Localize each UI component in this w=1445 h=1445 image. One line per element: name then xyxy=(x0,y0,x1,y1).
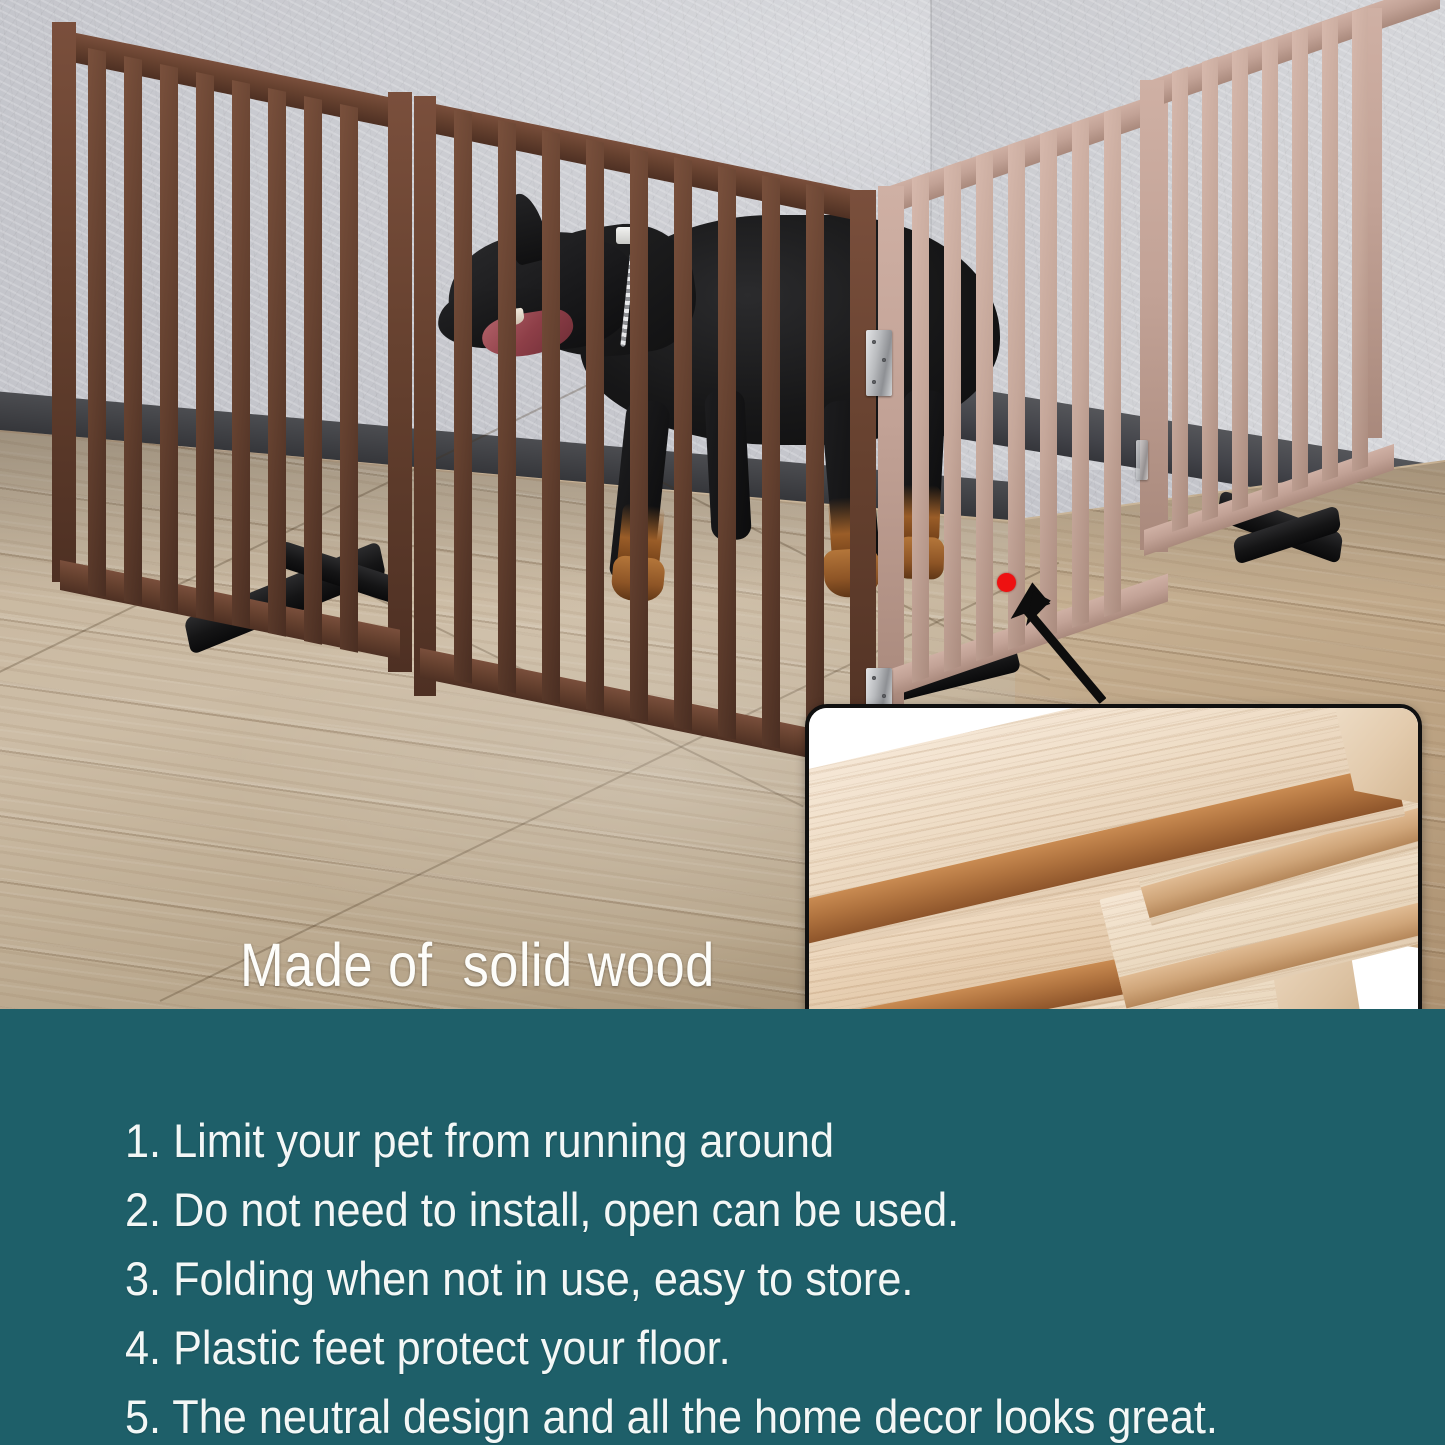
gate-panel-1 xyxy=(0,0,420,720)
gate-left-stile xyxy=(414,96,436,696)
photo-caption: Made of solid wood xyxy=(240,930,715,1000)
gate-slat xyxy=(630,148,648,722)
gate-left-stile xyxy=(878,186,904,706)
gate-slat xyxy=(1172,66,1188,532)
gate-hinge-top xyxy=(866,330,892,396)
gate-slat xyxy=(718,166,736,740)
gate-slat xyxy=(762,175,780,749)
gate-slat xyxy=(160,64,178,613)
gate-slat xyxy=(674,157,692,731)
feature-item-5: 5. The neutral design and all the home d… xyxy=(125,1382,1303,1445)
features-list: 1. Limit your pet from running around 2.… xyxy=(125,1106,1405,1445)
gate-slat xyxy=(268,88,286,637)
gate-hinge-bottom xyxy=(866,668,892,708)
gate-slat xyxy=(1322,16,1338,482)
gate-slat xyxy=(806,184,824,758)
feature-item-4: 4. Plastic feet protect your floor. xyxy=(125,1313,1303,1382)
gate-slat xyxy=(912,172,929,683)
product-infographic-page: Made of solid wood xyxy=(0,0,1445,1445)
gate-slat xyxy=(340,104,358,653)
gate-panel-4 xyxy=(1140,0,1445,620)
gate-slat xyxy=(944,161,961,672)
gate-slat xyxy=(1262,36,1278,502)
gate-right-stile xyxy=(388,92,412,672)
gate-slat xyxy=(1104,106,1121,617)
gate-slat xyxy=(196,72,214,621)
gate-hinge-right xyxy=(1136,440,1148,480)
gate-slat xyxy=(232,80,250,629)
feature-item-3: 3. Folding when not in use, easy to stor… xyxy=(125,1244,1303,1313)
feature-item-2: 2. Do not need to install, open can be u… xyxy=(125,1175,1303,1244)
gate-slat xyxy=(1040,128,1057,639)
gate-slat xyxy=(1232,46,1248,512)
gate-slat xyxy=(542,130,560,704)
gate-slat xyxy=(1352,6,1368,472)
feature-item-1: 1. Limit your pet from running around xyxy=(125,1106,1303,1175)
gate-panel-2 xyxy=(410,0,880,800)
gate-slat xyxy=(498,120,516,694)
gate-slat xyxy=(124,56,142,605)
gate-slat xyxy=(304,96,322,645)
gate-panel-3 xyxy=(878,0,1178,760)
gate-left-stile xyxy=(52,22,76,582)
gate-slat xyxy=(1202,56,1218,522)
gate-slat xyxy=(88,48,106,597)
gate-slat xyxy=(586,139,604,713)
gate-slat xyxy=(1072,117,1089,628)
gate-slat xyxy=(454,110,472,684)
gate-slat xyxy=(976,150,993,661)
gate-slat xyxy=(1292,26,1308,492)
red-dot-callout xyxy=(997,573,1016,592)
